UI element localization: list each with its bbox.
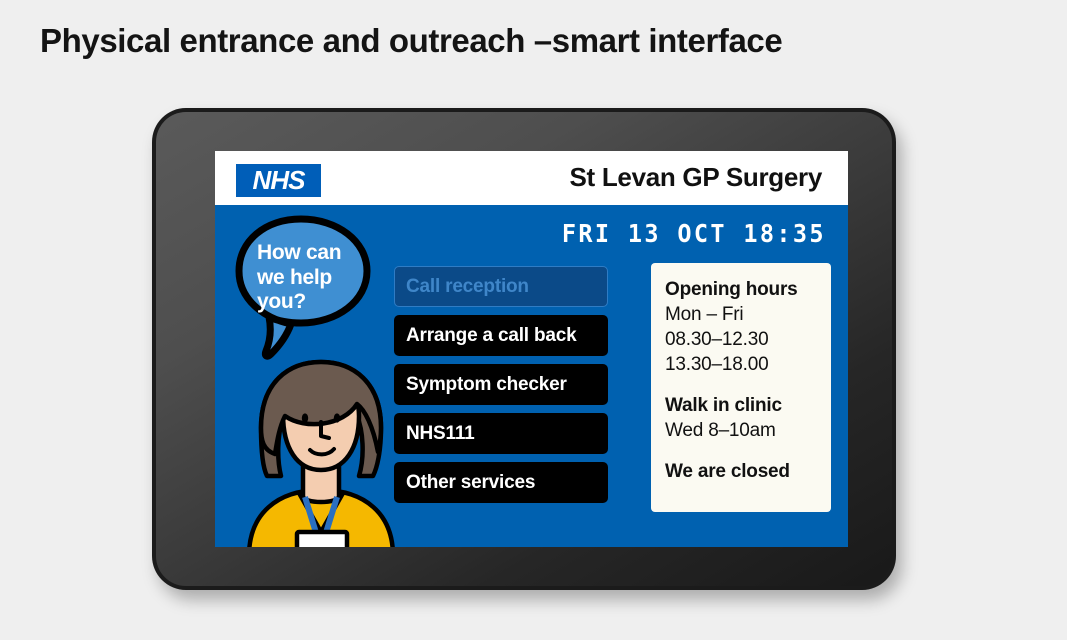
menu-item-label: Symptom checker [406,374,567,396]
panel-spacer [665,377,831,393]
menu-item-arrange-call-back[interactable]: Arrange a call back [394,315,608,356]
menu-item-other-services[interactable]: Other services [394,462,608,503]
menu-item-nhs111[interactable]: NHS111 [394,413,608,454]
receptionist-avatar [231,356,411,547]
menu-item-symptom-checker[interactable]: Symptom checker [394,364,608,405]
walk-in-times: Wed 8–10am [665,418,831,443]
kiosk-screen: NHS St Levan GP Surgery FRI 13 OCT 18:35… [215,151,848,547]
opening-days: Mon – Fri [665,302,831,327]
speech-bubble-text: How can we help you? [257,241,361,315]
panel-spacer [665,443,831,459]
screen-header: NHS St Levan GP Surgery [215,151,848,205]
opening-afternoon: 13.30–18.00 [665,352,831,377]
opening-morning: 08.30–12.30 [665,327,831,352]
menu-item-label: Call reception [406,276,529,298]
speech-bubble: How can we help you? [233,215,373,365]
walk-in-heading: Walk in clinic [665,393,831,418]
nhs-logo-text: NHS [253,167,305,193]
menu-item-label: Other services [406,472,535,494]
page-title: Physical entrance and outreach –smart in… [40,22,782,60]
service-menu: Call reception Arrange a call back Sympt… [394,266,608,511]
opening-hours-heading: Opening hours [665,277,831,302]
opening-hours-panel: Opening hours Mon – Fri 08.30–12.30 13.3… [651,263,831,512]
surgery-name: St Levan GP Surgery [570,162,822,193]
digital-clock: FRI 13 OCT 18:35 [562,219,826,248]
menu-item-label: Arrange a call back [406,325,576,347]
nhs-logo: NHS [236,164,321,197]
menu-item-call-reception[interactable]: Call reception [394,266,608,307]
menu-item-label: NHS111 [406,423,475,445]
status-badge: We are closed [665,459,831,484]
